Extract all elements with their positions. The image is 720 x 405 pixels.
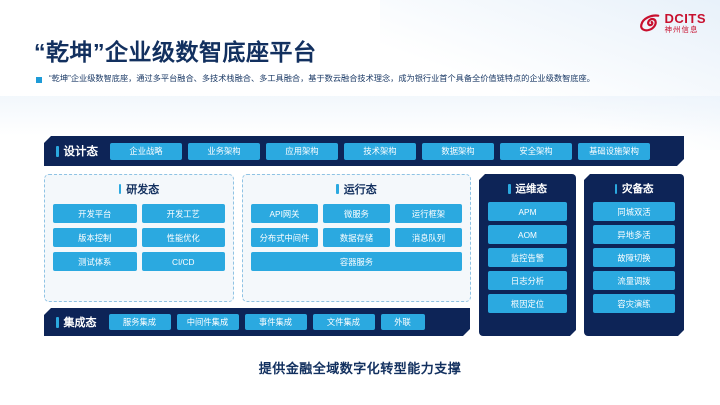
runtime-item[interactable]: 消息队列 [395, 228, 462, 247]
accent-tick-icon [119, 184, 122, 194]
ops-layer-panel: 运维态 APM AOM 监控告警 日志分析 根因定位 [479, 174, 576, 336]
dev-layer-header: 研发态 [53, 181, 225, 197]
dr-item[interactable]: 同城双活 [593, 202, 675, 221]
design-layer-bar: 设计态 企业战略 业务架构 应用架构 技术架构 数据架构 安全架构 基础设施架构 [44, 136, 684, 166]
runtime-layer-header: 运行态 [251, 181, 462, 197]
logo-sub-text: 神州信息 [665, 26, 707, 34]
runtime-row-2: 分布式中间件 数据存储 消息队列 [251, 228, 462, 247]
design-item[interactable]: 应用架构 [266, 143, 338, 160]
accent-tick-icon [615, 184, 618, 194]
intro-bullet-text: “乾坤”企业级数智底座，通过多平台融合、多技术栈融合、多工具融合，基于数云融合技… [49, 73, 595, 84]
design-layer-label: 设计态 [64, 143, 99, 159]
footer-note: 提供金融全域数字化转型能力支撑 [0, 358, 720, 377]
brand-logo: DCITS 神州信息 [639, 12, 707, 34]
dr-layer-label: 灾备态 [622, 181, 654, 196]
accent-tick-icon [56, 146, 59, 157]
dcits-swoosh-icon [639, 12, 661, 34]
design-item[interactable]: 数据架构 [422, 143, 494, 160]
page-title: “乾坤”企业级数智底座平台 [34, 33, 317, 67]
design-item[interactable]: 技术架构 [344, 143, 416, 160]
dr-item[interactable]: 故障切换 [593, 248, 675, 267]
platform-architecture-diagram: 设计态 企业战略 业务架构 应用架构 技术架构 数据架构 安全架构 基础设施架构… [44, 136, 684, 341]
dev-item[interactable]: CI/CD [142, 252, 226, 271]
accent-tick-icon [336, 184, 339, 194]
logo-main-text: DCITS [665, 12, 707, 25]
design-item[interactable]: 安全架构 [500, 143, 572, 160]
integration-layer-label: 集成态 [64, 314, 97, 330]
intro-bullet: “乾坤”企业级数智底座，通过多平台融合、多技术栈融合、多工具融合，基于数云融合技… [36, 73, 595, 84]
dev-layer-label: 研发态 [126, 181, 159, 197]
runtime-layer-items: API网关 微服务 运行框架 分布式中间件 数据存储 消息队列 容器服务 [251, 204, 462, 271]
ops-layer-header: 运维态 [488, 181, 567, 196]
runtime-row-1: API网关 微服务 运行框架 [251, 204, 462, 223]
ops-layer-label: 运维态 [516, 181, 548, 196]
dev-item[interactable]: 性能优化 [142, 228, 226, 247]
runtime-item[interactable]: 微服务 [323, 204, 390, 223]
dev-layer-panel: 研发态 开发平台 开发工艺 版本控制 性能优化 测试体系 CI/CD [44, 174, 234, 302]
dr-item[interactable]: 异地多活 [593, 225, 675, 244]
dr-item[interactable]: 容灾演练 [593, 294, 675, 313]
background-wash-band [0, 96, 720, 136]
ops-item[interactable]: 根因定位 [488, 294, 567, 313]
design-layer-label-wrap: 设计态 [44, 143, 98, 159]
dev-item[interactable]: 开发工艺 [142, 204, 226, 223]
dev-layer-items: 开发平台 开发工艺 版本控制 性能优化 测试体系 CI/CD [53, 204, 225, 271]
integration-item[interactable]: 事件集成 [245, 314, 307, 330]
integration-layer-items: 服务集成 中间件集成 事件集成 文件集成 外联 [97, 314, 425, 330]
runtime-item-container-service[interactable]: 容器服务 [251, 252, 462, 271]
dr-item[interactable]: 流量调拨 [593, 271, 675, 290]
ops-item[interactable]: APM [488, 202, 567, 221]
logo-wordmark: DCITS 神州信息 [665, 12, 707, 34]
ops-item[interactable]: 监控告警 [488, 248, 567, 267]
design-layer-items: 企业战略 业务架构 应用架构 技术架构 数据架构 安全架构 基础设施架构 [98, 143, 650, 160]
accent-tick-icon [508, 184, 511, 194]
runtime-item[interactable]: 分布式中间件 [251, 228, 318, 247]
integration-item[interactable]: 服务集成 [109, 314, 171, 330]
runtime-layer-panel: 运行态 API网关 微服务 运行框架 分布式中间件 数据存储 消息队列 容器服务 [242, 174, 471, 302]
runtime-layer-label: 运行态 [344, 181, 377, 197]
ops-layer-items: APM AOM 监控告警 日志分析 根因定位 [488, 202, 567, 313]
runtime-item[interactable]: 数据存储 [323, 228, 390, 247]
dr-layer-header: 灾备态 [593, 181, 675, 196]
integration-layer-label-wrap: 集成态 [44, 314, 97, 330]
dev-item[interactable]: 版本控制 [53, 228, 137, 247]
design-item[interactable]: 企业战略 [110, 143, 182, 160]
dev-item[interactable]: 开发平台 [53, 204, 137, 223]
dev-item[interactable]: 测试体系 [53, 252, 137, 271]
integration-item[interactable]: 文件集成 [313, 314, 375, 330]
dr-layer-items: 同城双活 异地多活 故障切换 流量调拨 容灾演练 [593, 202, 675, 313]
integration-item[interactable]: 外联 [381, 314, 425, 330]
ops-item[interactable]: AOM [488, 225, 567, 244]
runtime-item[interactable]: 运行框架 [395, 204, 462, 223]
integration-layer-bar: 集成态 服务集成 中间件集成 事件集成 文件集成 外联 [44, 308, 470, 336]
design-item[interactable]: 基础设施架构 [578, 143, 650, 160]
design-item[interactable]: 业务架构 [188, 143, 260, 160]
disaster-recovery-layer-panel: 灾备态 同城双活 异地多活 故障切换 流量调拨 容灾演练 [584, 174, 684, 336]
runtime-item[interactable]: API网关 [251, 204, 318, 223]
integration-item[interactable]: 中间件集成 [177, 314, 239, 330]
bullet-square-icon [36, 77, 42, 83]
ops-item[interactable]: 日志分析 [488, 271, 567, 290]
accent-tick-icon [56, 317, 59, 328]
